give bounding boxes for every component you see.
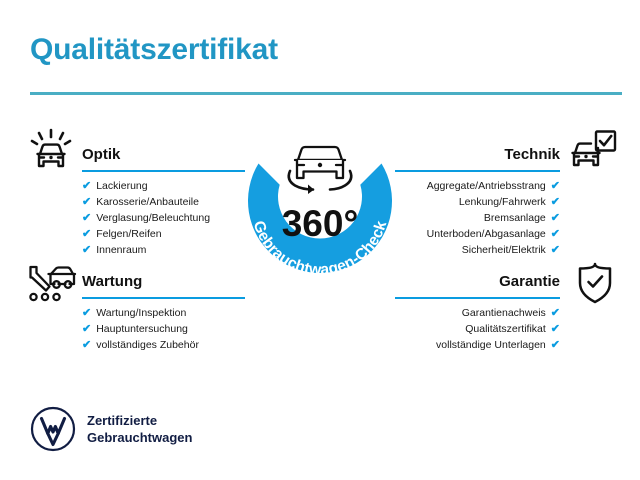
section-wartung: Wartung ✔Wartung/Inspektion ✔Hauptunters…: [82, 265, 245, 353]
section-technik: Technik Aggregate/Antriebsstrang✔ Lenkun…: [395, 138, 560, 258]
section-optik: Optik ✔Lackierung ✔Karosserie/Anbauteile…: [82, 138, 245, 258]
footer-text: Zertifizierte Gebrauchtwagen: [87, 412, 192, 446]
list-item-label: vollständige Unterlagen: [436, 340, 546, 351]
check-icon: ✔: [82, 181, 91, 192]
check-icon: ✔: [551, 197, 560, 208]
header-divider: [30, 92, 622, 95]
page-title: Qualitätszertifikat: [30, 33, 278, 67]
list-item-label: Lackierung: [96, 181, 147, 192]
list-item: ✔Karosserie/Anbauteile: [82, 194, 245, 210]
list-item-label: Karosserie/Anbauteile: [96, 197, 199, 208]
list-item: vollständige Unterlagen✔: [395, 337, 560, 353]
footer-brand: Zertifizierte Gebrauchtwagen: [30, 406, 192, 452]
car-shine-icon: [26, 128, 76, 174]
list-item: Aggregate/Antriebsstrang✔: [395, 178, 560, 194]
list-item: Bremsanlage✔: [395, 210, 560, 226]
checklist-wartung: ✔Wartung/Inspektion ✔Hauptuntersuchung ✔…: [82, 305, 245, 353]
list-item-label: Qualitätszertifikat: [465, 324, 546, 335]
list-item: ✔Lackierung: [82, 178, 245, 194]
footer-line-2: Gebrauchtwagen: [87, 429, 192, 446]
section-divider-optik: [82, 170, 245, 172]
list-item: ✔Wartung/Inspektion: [82, 305, 245, 321]
volkswagen-logo: [30, 406, 76, 452]
section-divider-technik: [395, 170, 560, 172]
check-icon: ✔: [82, 229, 91, 240]
car-checkbox-icon: [566, 128, 618, 174]
section-title-optik: Optik: [82, 146, 120, 163]
list-item: ✔Innenraum: [82, 242, 245, 258]
section-divider-garantie: [395, 297, 560, 299]
check-icon: ✔: [82, 308, 91, 319]
check-icon: ✔: [82, 213, 91, 224]
list-item-label: Innenraum: [96, 245, 146, 256]
list-item: ✔vollständiges Zubehör: [82, 337, 245, 353]
list-item: ✔Felgen/Reifen: [82, 226, 245, 242]
check-icon: ✔: [551, 213, 560, 224]
shield-check-icon: [574, 260, 616, 306]
list-item-label: Hauptuntersuchung: [96, 324, 188, 335]
check-icon: ✔: [82, 324, 91, 335]
list-item-label: Garantienachweis: [462, 308, 546, 319]
list-item: ✔Verglasung/Beleuchtung: [82, 210, 245, 226]
check-icon: ✔: [551, 245, 560, 256]
list-item: Unterboden/Abgasanlage✔: [395, 226, 560, 242]
list-item-label: Unterboden/Abgasanlage: [427, 229, 546, 240]
list-item-label: Sicherheit/Elektrik: [462, 245, 546, 256]
list-item-label: Verglasung/Beleuchtung: [96, 213, 210, 224]
check-icon: ✔: [551, 181, 560, 192]
360-check-badge: 360° Gebrauchtwagen-Check: [232, 118, 408, 310]
badge-center-label: 360°: [282, 203, 359, 244]
list-item-label: Wartung/Inspektion: [96, 308, 186, 319]
section-title-technik: Technik: [504, 146, 560, 163]
list-item-label: Aggregate/Antriebsstrang: [427, 181, 546, 192]
list-item-label: Felgen/Reifen: [96, 229, 161, 240]
list-item-label: vollständiges Zubehör: [96, 340, 199, 351]
section-title-wartung: Wartung: [82, 273, 142, 290]
checklist-technik: Aggregate/Antriebsstrang✔ Lenkung/Fahrwe…: [395, 178, 560, 258]
car-service-tool-icon: [24, 260, 78, 306]
check-icon: ✔: [82, 340, 91, 351]
check-icon: ✔: [82, 245, 91, 256]
list-item-label: Bremsanlage: [484, 213, 546, 224]
list-item: Sicherheit/Elektrik✔: [395, 242, 560, 258]
section-garantie: Garantie Garantienachweis✔ Qualitätszert…: [395, 265, 560, 353]
footer-line-1: Zertifizierte: [87, 412, 192, 429]
list-item: Garantienachweis✔: [395, 305, 560, 321]
list-item-label: Lenkung/Fahrwerk: [459, 197, 546, 208]
section-divider-wartung: [82, 297, 245, 299]
check-icon: ✔: [551, 340, 560, 351]
list-item: ✔Hauptuntersuchung: [82, 321, 245, 337]
section-title-garantie: Garantie: [499, 273, 560, 290]
checklist-optik: ✔Lackierung ✔Karosserie/Anbauteile ✔Verg…: [82, 178, 245, 258]
certificate-page: Qualitätszertifikat Optik: [0, 0, 640, 480]
check-icon: ✔: [82, 197, 91, 208]
check-icon: ✔: [551, 229, 560, 240]
list-item: Qualitätszertifikat✔: [395, 321, 560, 337]
checklist-garantie: Garantienachweis✔ Qualitätszertifikat✔ v…: [395, 305, 560, 353]
check-icon: ✔: [551, 308, 560, 319]
list-item: Lenkung/Fahrwerk✔: [395, 194, 560, 210]
check-icon: ✔: [551, 324, 560, 335]
